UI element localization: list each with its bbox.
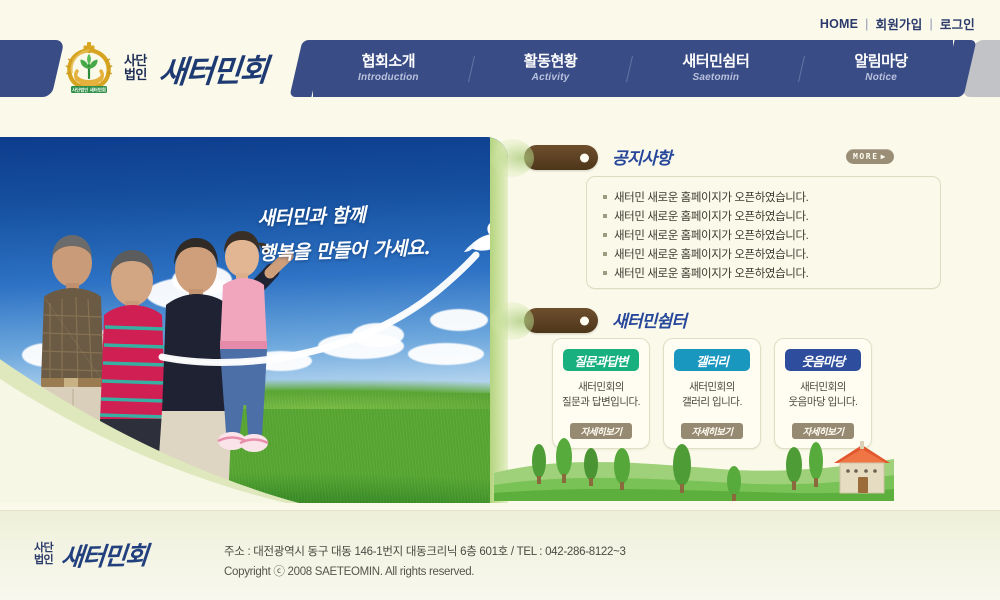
notice-list-item[interactable]: 새터민 새로운 홈페이지가 오픈하였습니다.	[603, 225, 940, 244]
notice-box: 새터민 새로운 홈페이지가 오픈하였습니다. 새터민 새로운 홈페이지가 오픈하…	[586, 176, 941, 289]
notice-more-label: MORE	[853, 152, 879, 161]
logo-prefix-line2: 법인	[124, 68, 147, 82]
nav-divider-3	[798, 56, 805, 82]
utility-link-home[interactable]: HOME	[813, 17, 865, 31]
logo-prefix-line1: 사단	[124, 54, 147, 68]
hero-slogan: 새터민과 함께 행복을 만들어 가세요.	[257, 196, 431, 272]
card-badge-humor: 웃음마당	[785, 349, 861, 371]
nav-item-introduction[interactable]: 협회소개 Introduction	[352, 51, 425, 86]
nav-item-introduction-en: Introduction	[358, 71, 419, 84]
nav-item-notice-en: Notice	[854, 71, 908, 84]
header-decoration-left	[0, 40, 65, 97]
notice-link[interactable]: 새터민 새로운 홈페이지가 오픈하였습니다.	[614, 265, 808, 281]
site-footer: 사단 법인 새터민회 주소 : 대전광역시 동구 대동 146-1번지 대동크리…	[0, 510, 1000, 600]
figure-grandfather	[41, 235, 104, 501]
card-desc-line2: 웃음마당 입니다.	[789, 395, 858, 410]
house-icon	[834, 441, 890, 493]
nav-item-notice[interactable]: 알림마당 Notice	[848, 51, 914, 86]
card-badge-qna: 질문과답변	[563, 349, 639, 371]
card-description-qna: 새터민회의 질문과 답변입니다.	[562, 380, 640, 410]
cloud-shape	[430, 309, 488, 331]
footer-copyright: Copyright ⓒ 2008 SAETEOMIN. All rights r…	[224, 562, 626, 582]
bullet-icon	[603, 271, 607, 275]
homepage-root: HOME | 회원가입 | 로그인	[0, 0, 1000, 600]
notice-list-item[interactable]: 새터민 새로운 홈페이지가 오픈하였습니다.	[603, 187, 940, 206]
footer-logo-prefix: 사단 법인	[34, 543, 53, 566]
hero-banner[interactable]: 새터민과 함께 행복을 만들어 가세요.	[0, 137, 508, 503]
footer-brand-text: 새터민회	[59, 536, 148, 574]
shelter-section-title: 새터민쉼터	[612, 307, 686, 332]
nav-item-activity-ko: 활동현황	[524, 53, 578, 70]
association-emblem-icon: 사단법인 새터민회	[62, 41, 116, 95]
landscape-illustration	[494, 433, 894, 501]
hero-slogan-line1: 새터민과 함께	[257, 196, 429, 237]
nav-divider-1	[468, 56, 475, 82]
notice-link[interactable]: 새터민 새로운 홈페이지가 오픈하였습니다.	[614, 246, 808, 262]
logo-brand-text: 새터민회	[157, 44, 269, 91]
more-arrow-icon: ▶	[881, 152, 887, 161]
footer-prefix-line2: 법인	[34, 555, 53, 567]
cloud-shape	[352, 323, 404, 347]
nav-item-activity[interactable]: 활동현황 Activity	[518, 51, 584, 86]
nav-item-saetomin-ko: 새터민쉼터	[682, 53, 749, 70]
figure-grandmother	[100, 250, 166, 501]
bullet-icon	[603, 252, 607, 256]
card-desc-line2: 질문과 답변입니다.	[562, 395, 640, 410]
card-desc-line1: 새터민회의	[789, 380, 858, 395]
footer-address: 주소 : 대전광역시 동구 대동 146-1번지 대동크리닉 6층 601호 /…	[224, 542, 626, 562]
nav-item-activity-en: Activity	[524, 71, 578, 84]
notice-link[interactable]: 새터민 새로운 홈페이지가 오픈하였습니다.	[614, 208, 808, 224]
site-logo[interactable]: 사단법인 새터민회 사단 법인 새터민회	[62, 41, 267, 95]
notice-link[interactable]: 새터민 새로운 홈페이지가 오픈하였습니다.	[614, 227, 808, 243]
cloud-shape	[408, 343, 484, 365]
card-desc-line1: 새터민회의	[562, 380, 640, 395]
card-description-humor: 새터민회의 웃음마당 입니다.	[789, 380, 858, 410]
main-nav: 협회소개 Introduction 활동현황 Activity 새터민쉼터 Sa…	[313, 40, 953, 97]
bullet-icon	[603, 214, 607, 218]
hero-slogan-line2: 행복을 만들어 가세요.	[258, 231, 430, 272]
card-desc-line2: 갤러리 입니다.	[682, 395, 742, 410]
card-desc-line1: 새터민회의	[682, 380, 742, 395]
tab-dot-icon	[580, 153, 589, 162]
footer-logo: 사단 법인 새터민회	[34, 537, 147, 573]
notice-more-button[interactable]: MORE ▶	[846, 149, 894, 164]
tab-dot-icon	[580, 316, 589, 325]
footer-info: 주소 : 대전광역시 동구 대동 146-1번지 대동크리닉 6층 601호 /…	[224, 542, 626, 582]
nav-item-saetomin-en: Saetomin	[682, 71, 749, 84]
notice-link[interactable]: 새터민 새로운 홈페이지가 오픈하였습니다.	[614, 189, 808, 205]
notice-section-tab	[524, 145, 598, 170]
utility-link-signup[interactable]: 회원가입	[869, 14, 930, 33]
svg-text:사단법인 새터민회: 사단법인 새터민회	[72, 86, 106, 93]
bullet-icon	[603, 233, 607, 237]
notice-list: 새터민 새로운 홈페이지가 오픈하였습니다. 새터민 새로운 홈페이지가 오픈하…	[587, 177, 940, 282]
notice-section-title: 공지사항	[612, 144, 671, 169]
main-nav-items: 협회소개 Introduction 활동현황 Activity 새터민쉼터 Sa…	[313, 40, 953, 97]
nav-divider-2	[626, 56, 633, 82]
notice-list-item[interactable]: 새터민 새로운 홈페이지가 오픈하였습니다.	[603, 244, 940, 263]
nav-item-saetomin[interactable]: 새터민쉼터 Saetomin	[676, 51, 755, 86]
bullet-icon	[603, 195, 607, 199]
nav-item-notice-ko: 알림마당	[854, 53, 908, 70]
nav-item-introduction-ko: 협회소개	[358, 53, 419, 70]
right-column: 공지사항 MORE ▶ 새터민 새로운 홈페이지가 오픈하였습니다. 새터민 새…	[524, 137, 1000, 503]
utility-nav: HOME | 회원가입 | 로그인	[813, 14, 982, 33]
card-description-gallery: 새터민회의 갤러리 입니다.	[682, 380, 742, 410]
utility-link-login[interactable]: 로그인	[933, 14, 982, 33]
notice-list-item[interactable]: 새터민 새로운 홈페이지가 오픈하였습니다.	[603, 206, 940, 225]
card-badge-gallery: 갤러리	[674, 349, 750, 371]
logo-org-prefix: 사단 법인	[124, 54, 147, 81]
notice-list-item[interactable]: 새터민 새로운 홈페이지가 오픈하였습니다.	[603, 263, 940, 282]
shelter-section-tab	[524, 308, 598, 333]
